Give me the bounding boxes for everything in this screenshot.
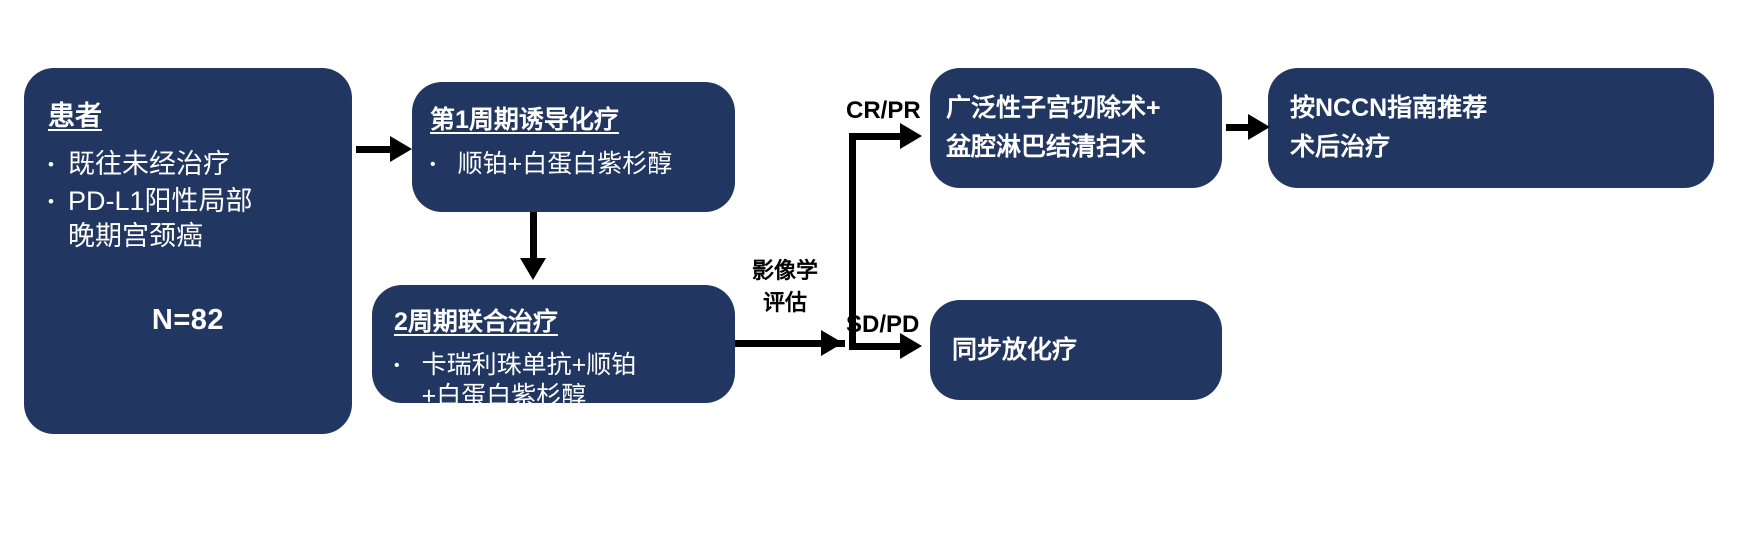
box-nccn-text: 按NCCN指南推荐 术后治疗 <box>1290 89 1487 167</box>
arrowhead-induction-to-combination-icon <box>520 258 546 280</box>
box-patients-bullet-2: • PD-L1阳性局部 晚期宫颈癌 <box>48 184 328 254</box>
box-combination-therapy[interactable]: 2周期联合治疗 • 卡瑞利珠单抗+顺铂 +白蛋白紫杉醇 <box>372 285 735 403</box>
patient-count: N=82 <box>48 304 328 337</box>
box-patients-bullet-1: • 既往未经治疗 <box>48 147 328 182</box>
edge-label-cr-pr: CR/PR <box>846 97 921 125</box>
edge-label-imaging-assessment: 影像学 评估 <box>744 255 826 319</box>
bullet-marker-icon: • <box>48 147 54 173</box>
box-concurrent-chemoradiotherapy[interactable]: 同步放化疗 <box>930 300 1222 400</box>
box-combination-title: 2周期联合治疗 <box>394 302 721 338</box>
connector-patients-to-induction <box>356 146 394 153</box>
box-induction-chemotherapy[interactable]: 第1周期诱导化疗 • 顺铂+白蛋白紫杉醇 <box>412 82 735 212</box>
box-surgery-text: 广泛性子宫切除术+ 盆腔淋巴结清扫术 <box>946 89 1161 167</box>
arrowhead-surgery-to-nccn-icon <box>1248 114 1270 140</box>
box-induction-title: 第1周期诱导化疗 <box>430 100 721 136</box>
arrowhead-cr-pr-icon <box>900 123 922 149</box>
box-ccrt-text: 同步放化疗 <box>952 333 1077 368</box>
flowchart-canvas: 患者 • 既往未经治疗 • PD-L1阳性局部 晚期宫颈癌 N=82 第1周期诱… <box>0 0 1738 537</box>
bullet-marker-icon: • <box>394 350 400 374</box>
box-patients-title: 患者 <box>48 94 328 133</box>
connector-branch-cr-pr <box>849 133 907 140</box>
connector-branch-sd-pd <box>849 343 907 350</box>
box-radical-hysterectomy[interactable]: 广泛性子宫切除术+ 盆腔淋巴结清扫术 <box>930 68 1222 188</box>
bullet-marker-icon: • <box>430 149 436 173</box>
bullet-marker-icon: • <box>48 184 54 210</box>
box-induction-bullet-1: • 顺铂+白蛋白紫杉醇 <box>430 149 721 180</box>
box-combination-bullet-1: • 卡瑞利珠单抗+顺铂 +白蛋白紫杉醇 <box>394 350 721 412</box>
connector-induction-to-combination <box>530 212 537 264</box>
box-patients[interactable]: 患者 • 既往未经治疗 • PD-L1阳性局部 晚期宫颈癌 N=82 <box>24 68 352 434</box>
arrowhead-combination-to-junction-icon <box>821 330 843 356</box>
box-nccn-adjuvant-therapy[interactable]: 按NCCN指南推荐 术后治疗 <box>1268 68 1714 188</box>
edge-label-sd-pd: SD/PD <box>846 311 919 339</box>
arrowhead-patients-to-induction-icon <box>390 136 412 162</box>
